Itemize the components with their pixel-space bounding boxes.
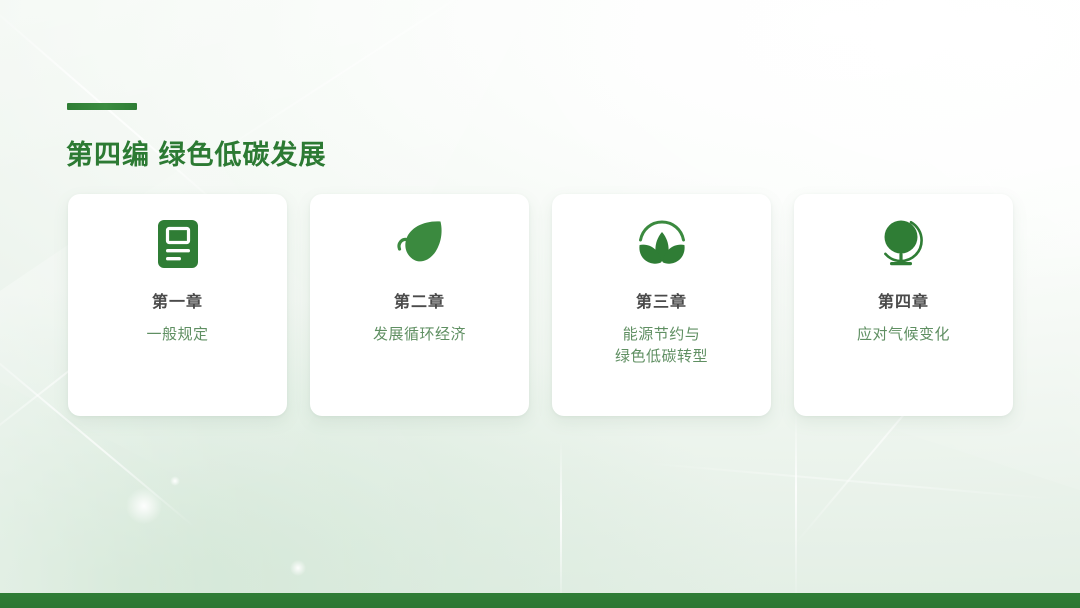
chapter-card-list: 第一章 一般规定 第二章 发展循环经济 xyxy=(68,194,1013,416)
globe-icon xyxy=(873,215,935,273)
chapter-card-1[interactable]: 第一章 一般规定 xyxy=(68,194,287,416)
chapter-name: 应对气候变化 xyxy=(857,324,950,346)
chapter-name-line-1: 发展循环经济 xyxy=(373,326,466,343)
chapter-name-line-1: 能源节约与 xyxy=(623,326,701,343)
sprout-icon xyxy=(631,215,693,273)
chapter-card-3[interactable]: 第三章 能源节约与 绿色低碳转型 xyxy=(552,194,771,416)
chapter-name-line-1: 应对气候变化 xyxy=(857,326,950,343)
chapter-name: 一般规定 xyxy=(146,324,208,346)
chapter-name-line-1: 一般规定 xyxy=(146,326,208,343)
chapter-name-line-2: 绿色低碳转型 xyxy=(615,346,708,368)
chapter-number: 第三章 xyxy=(636,295,687,311)
chapter-number: 第四章 xyxy=(878,295,929,311)
bottom-green-bar xyxy=(0,593,1080,608)
slide-root: 第四编 绿色低碳发展 第一章 一般规定 xyxy=(0,0,1080,608)
chapter-number: 第一章 xyxy=(152,295,203,311)
title-accent-rule xyxy=(67,103,137,110)
book-icon xyxy=(147,215,209,273)
chapter-number: 第二章 xyxy=(394,295,445,311)
chapter-name: 能源节约与 绿色低碳转型 xyxy=(615,324,708,368)
chapter-card-4[interactable]: 第四章 应对气候变化 xyxy=(794,194,1013,416)
chapter-card-2[interactable]: 第二章 发展循环经济 xyxy=(310,194,529,416)
leaf-icon xyxy=(389,215,451,273)
chapter-name: 发展循环经济 xyxy=(373,324,466,346)
page-title: 第四编 绿色低碳发展 xyxy=(66,133,327,172)
